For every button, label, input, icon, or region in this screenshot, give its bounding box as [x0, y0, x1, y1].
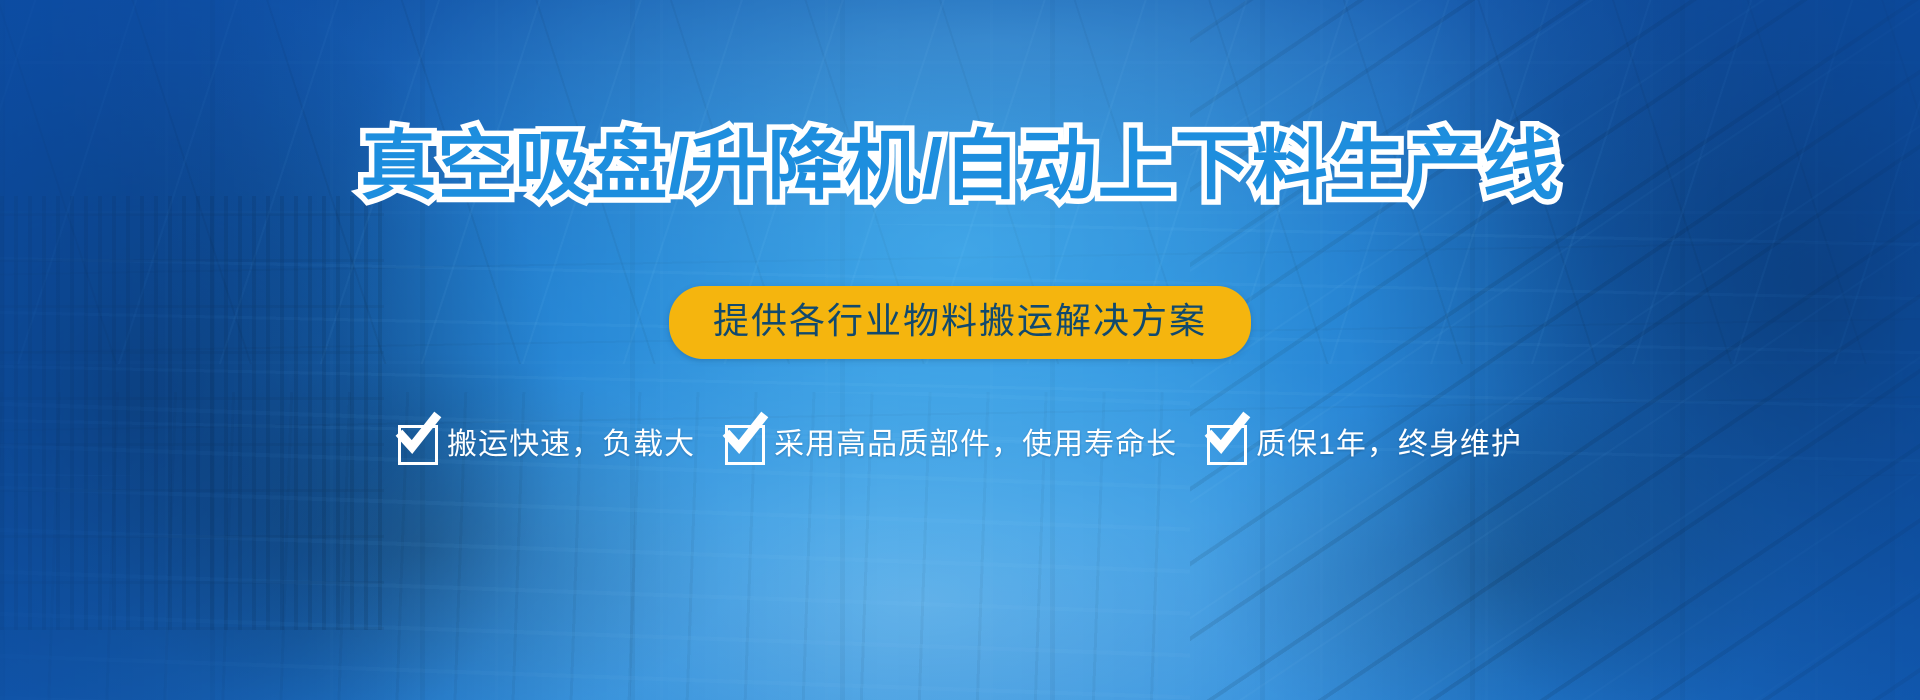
feature-label: 采用高品质部件，使用寿命长 — [774, 428, 1177, 462]
feature-item: 采用高品质部件，使用寿命长 — [725, 425, 1177, 465]
banner-headline: 真空吸盘/升降机/自动上下料生产线 — [0, 124, 1920, 210]
banner-subtitle-pill: 提供各行业物料搬运解决方案 — [669, 286, 1251, 359]
feature-item: 质保1年，终身维护 — [1207, 425, 1522, 465]
feature-item: 搬运快速，负载大 — [398, 425, 695, 465]
feature-list: 搬运快速，负载大 采用高品质部件，使用寿命长 质保1年，终身维护 — [0, 425, 1920, 465]
checkbox-checked-icon — [1207, 425, 1247, 465]
feature-label: 质保1年，终身维护 — [1256, 428, 1522, 462]
banner-content: 真空吸盘/升降机/自动上下料生产线 提供各行业物料搬运解决方案 搬运快速，负载大… — [0, 0, 1920, 700]
checkbox-checked-icon — [398, 425, 438, 465]
promo-banner: 真空吸盘/升降机/自动上下料生产线 提供各行业物料搬运解决方案 搬运快速，负载大… — [0, 0, 1920, 700]
feature-label: 搬运快速，负载大 — [447, 428, 695, 462]
checkbox-checked-icon — [725, 425, 765, 465]
